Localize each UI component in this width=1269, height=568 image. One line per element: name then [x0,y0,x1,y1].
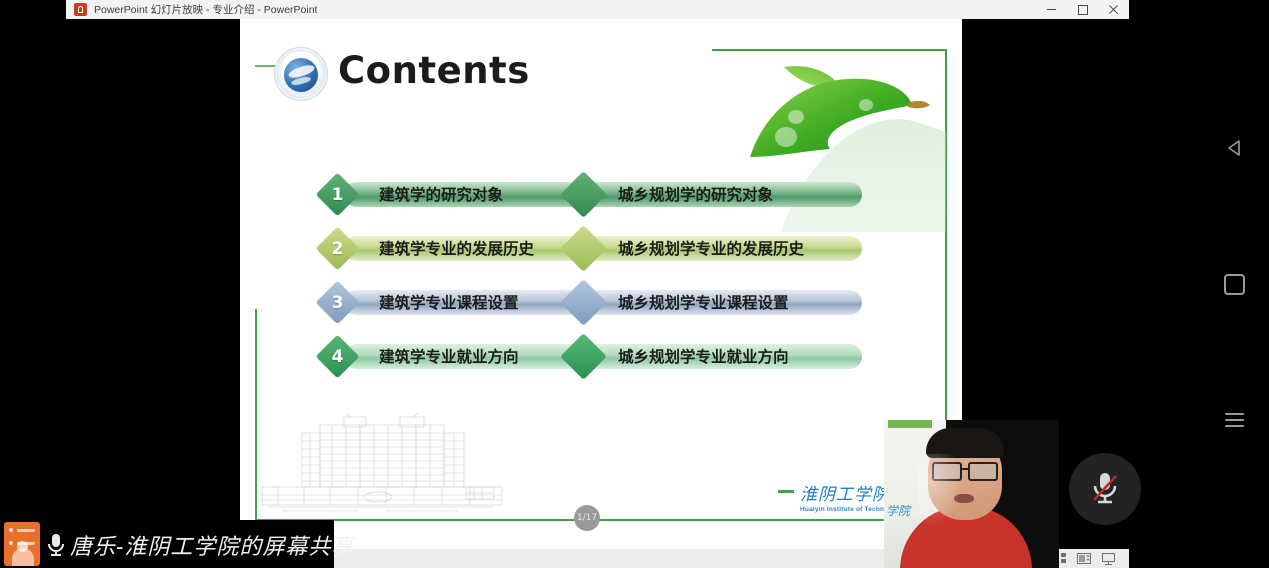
slide-page-indicator: 1/17 [574,505,600,531]
contents-list: 1 建筑学的研究对象 城乡规划学的研究对象 2 建筑学专业的发展历史 城乡规划学… [322,179,922,395]
building-sketch [258,407,506,515]
mute-microphone-button[interactable] [1069,453,1141,525]
video-wall-accent [888,420,932,428]
android-back-button[interactable] [1200,128,1269,168]
screen: PowerPoint 幻灯片放映 - 专业介绍 - PowerPoint [0,0,1269,568]
frame-top [712,49,945,51]
row-diamond-marker [560,225,607,272]
view-buttons [1053,549,1115,568]
video-glare [918,454,962,526]
menu-lines-icon [1225,413,1244,427]
row-diamond-marker [560,333,607,380]
window-title: PowerPoint 幻灯片放映 - 专业介绍 - PowerPoint [94,2,317,17]
back-triangle-icon [1225,138,1245,158]
row-label-right: 城乡规划学的研究对象 [618,183,773,205]
row-label-left: 建筑学专业就业方向 [379,345,519,367]
slide-view-icon [1077,553,1091,564]
row-label-right: 城乡规划学专业的发展历史 [618,237,804,259]
row-label-left: 建筑学的研究对象 [379,183,503,205]
row-number: 1 [332,185,344,205]
slideshow-stage: Contents 1 建筑学的研究对象 城乡规划学的研究对象 [66,19,1129,568]
seal-emblem [284,58,318,92]
row-number-badge: 1 [322,179,353,210]
home-square-icon [1224,274,1245,295]
row-number: 4 [332,347,344,367]
window-titlebar: PowerPoint 幻灯片放映 - 专业介绍 - PowerPoint [66,0,1129,20]
university-seal-logo [274,47,328,101]
microphone-muted-icon [1089,470,1121,508]
presentation-view-icon [1102,553,1115,565]
logo-accent-dash [778,490,794,493]
close-icon [1109,5,1118,14]
left-gutter [0,0,66,568]
building-line-drawing-icon [258,407,506,515]
minimize-button[interactable] [1036,0,1067,19]
row-label-left: 建筑学专业的发展历史 [379,237,534,259]
contents-row[interactable]: 2 建筑学专业的发展历史 城乡规划学专业的发展历史 [322,233,922,264]
frame-left [255,309,257,521]
window-controls [1036,0,1129,19]
row-label-right: 城乡规划学专业课程设置 [618,291,789,313]
share-status-text: 唐乐-淮阴工学院的屏幕共享 [70,529,354,561]
contents-row[interactable]: 4 建筑学专业就业方向 城乡规划学专业就业方向 [322,341,922,372]
row-label-right: 城乡规划学专业就业方向 [618,345,789,367]
presentation-view-button[interactable] [1101,553,1115,565]
contents-row[interactable]: 1 建筑学的研究对象 城乡规划学的研究对象 [322,179,922,210]
slide-view-button[interactable] [1077,553,1091,565]
row-diamond-marker [560,279,607,326]
close-button[interactable] [1098,0,1129,19]
row-label-left: 建筑学专业课程设置 [379,291,519,313]
row-number: 2 [332,239,344,259]
row-number: 3 [332,293,344,313]
screen-share-banner: 唐乐-淮阴工学院的屏幕共享 [0,520,334,568]
row-number-badge: 3 [322,287,353,318]
android-navigation-rail [1200,0,1269,568]
android-home-button[interactable] [1200,264,1269,304]
maximize-button[interactable] [1067,0,1098,19]
slide-canvas[interactable]: Contents 1 建筑学的研究对象 城乡规划学的研究对象 [240,19,962,549]
row-number-badge: 2 [322,233,353,264]
contents-row[interactable]: 3 建筑学专业课程设置 城乡规划学专业课程设置 [322,287,922,318]
participant-video[interactable]: 学院 [884,420,1059,568]
row-number-badge: 4 [322,341,353,372]
video-wall-logo: 学院 [886,502,910,519]
android-recents-button[interactable] [1200,400,1269,440]
microphone-icon [46,533,66,557]
contacts-app-icon[interactable] [4,522,40,566]
powerpoint-icon [74,3,87,16]
page-title: Contents [338,49,530,92]
frame-bottom [255,519,945,521]
row-diamond-marker [560,171,607,218]
powerpoint-window: PowerPoint 幻灯片放映 - 专业介绍 - PowerPoint [66,0,1129,568]
